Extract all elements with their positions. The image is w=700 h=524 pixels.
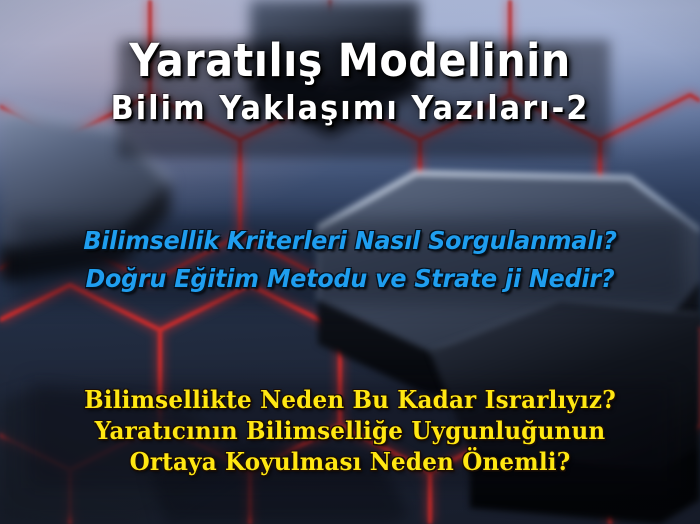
yellow-questions-block: Bilimsellikte Neden Bu Kadar Israrlıyız?… xyxy=(0,384,700,477)
blue-question-line-2: Doğru Eğitim Metodu ve Strate ji Nedir? xyxy=(18,260,683,298)
title-block: Yaratılış Modelinin Bilim Yaklaşımı Yazı… xyxy=(0,36,700,130)
title-line-1: Yaratılış Modelinin xyxy=(28,36,672,86)
title-line-2: Bilim Yaklaşımı Yazıları-2 xyxy=(28,86,672,130)
yellow-question-line-1: Bilimsellikte Neden Bu Kadar Israrlıyız? xyxy=(14,384,686,415)
blue-questions-block: Bilimsellik Kriterleri Nasıl Sorgulanmal… xyxy=(0,222,700,298)
poster-canvas: Yaratılış Modelinin Bilim Yaklaşımı Yazı… xyxy=(0,0,700,524)
yellow-question-line-2: Yaratıcının Bilimselliğe Uygunluğunun xyxy=(14,415,686,446)
yellow-question-line-3: Ortaya Koyulması Neden Önemli? xyxy=(14,446,686,477)
blue-question-line-1: Bilimsellik Kriterleri Nasıl Sorgulanmal… xyxy=(18,222,683,260)
